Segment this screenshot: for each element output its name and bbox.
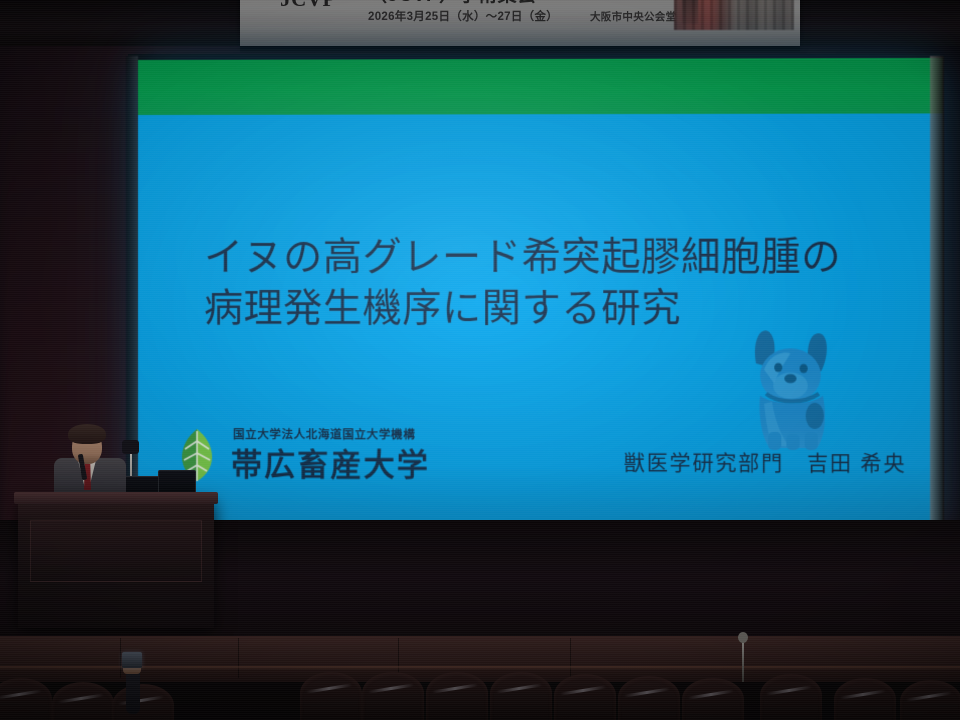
seat [618, 676, 680, 720]
seat [554, 674, 616, 720]
audience-seating [0, 636, 960, 720]
seat [300, 672, 362, 720]
bulldog-illustration [734, 323, 848, 450]
seat [0, 678, 52, 720]
presenter-affiliation-and-name: 獣医学研究部門 吉田 希央 [624, 447, 906, 478]
slide-title: イヌの高グレード希突起膠細胞腫の 病理発生機序に関する研究 [204, 232, 890, 334]
seat [900, 680, 960, 720]
slide-title-line-1: イヌの高グレード希突起膠細胞腫の [204, 232, 890, 283]
university-name: 帯広畜産大学 [231, 439, 430, 484]
banner-venue: 大阪市中央公会堂 [590, 9, 676, 24]
seat [682, 678, 744, 720]
podium [18, 498, 214, 628]
aisle-microphone [742, 640, 744, 682]
university-logo: 国立大学法人北海道国立大学機構 帯広畜産大学 [171, 425, 472, 488]
slide-body: イヌの高グレード希突起膠細胞腫の 病理発生機序に関する研究 [138, 113, 943, 522]
banner-drop-shadow [240, 46, 800, 54]
phone-screen [122, 652, 142, 668]
conference-banner: JCVP （JCVP）学術集会 2026年3月25日（水）〜27日（金） 大阪市… [240, 0, 800, 46]
screen-edge-right [930, 56, 944, 536]
seat [362, 672, 424, 720]
venue-building-photo [674, 0, 794, 30]
jcvp-wordmark: JCVP [256, 0, 360, 16]
speaker-hair [68, 424, 106, 444]
photo-canvas: JCVP （JCVP）学術集会 2026年3月25日（水）〜27日（金） 大阪市… [0, 0, 960, 720]
seat [490, 672, 552, 720]
seat [834, 678, 896, 720]
projection-screen: イヌの高グレード希突起膠細胞腫の 病理発生機序に関する研究 [138, 58, 943, 534]
slide-header-band [138, 58, 943, 115]
podium-top [14, 492, 218, 504]
seat [426, 672, 488, 720]
bulldog-photo [734, 323, 848, 450]
attendee-with-phone [120, 652, 146, 714]
podium-front-panel [30, 520, 202, 582]
jcvp-logo: JCVP [256, 0, 360, 18]
banner-date: 2026年3月25日（水）〜27日（金） [368, 8, 558, 24]
seat [52, 682, 114, 720]
banner-title: （JCVP）学術集会 [368, 0, 668, 7]
seat [760, 674, 822, 720]
